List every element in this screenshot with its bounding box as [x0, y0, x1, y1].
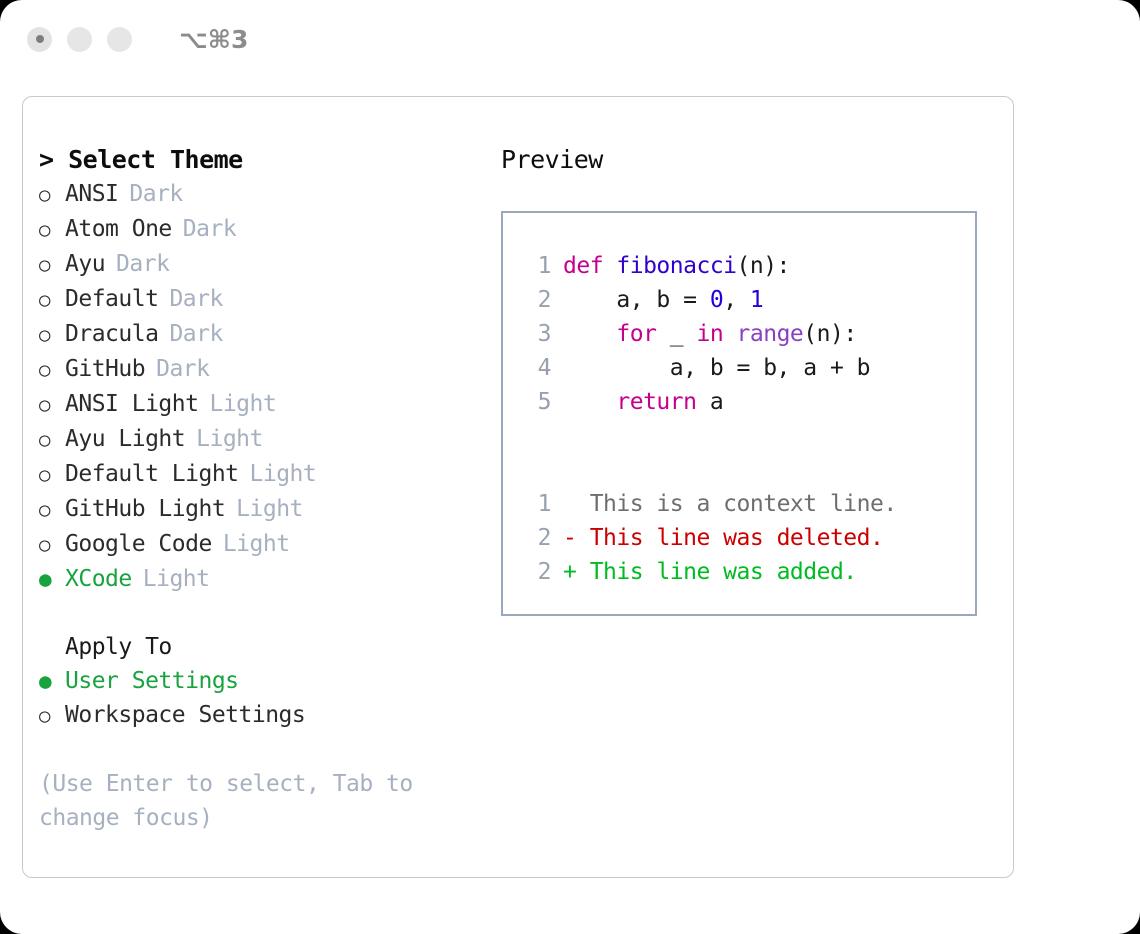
theme-tag: Dark — [183, 212, 236, 246]
diff-text: This line was added. — [590, 555, 857, 589]
code-token: in — [696, 321, 723, 347]
theme-name: ANSI Light — [65, 387, 198, 421]
code-line: 5 return a — [517, 385, 975, 419]
code-token: range — [737, 321, 804, 347]
list-spacer — [39, 596, 479, 630]
theme-item-ayu[interactable]: ○AyuDark — [39, 247, 479, 282]
theme-name: Google Code — [65, 527, 212, 561]
code-line: 4 a, b = b, a + b — [517, 351, 975, 385]
apply-to-label: User Settings — [65, 664, 239, 698]
theme-name: Dracula — [65, 317, 158, 351]
theme-name: XCode — [65, 562, 132, 596]
theme-item-default[interactable]: ○DefaultDark — [39, 282, 479, 317]
code-token: a, b = — [563, 287, 710, 313]
radio-icon: ○ — [39, 493, 65, 527]
theme-tag: Light — [196, 422, 263, 456]
window-dot-third-icon[interactable] — [107, 27, 132, 52]
diff-line-context: 1 This is a context line. — [517, 487, 975, 521]
code-token: fibonacci — [616, 253, 736, 279]
theme-item-atom-one[interactable]: ○Atom OneDark — [39, 212, 479, 247]
code-token: (n): — [737, 253, 790, 279]
theme-name: ANSI — [65, 177, 118, 211]
radio-icon: ○ — [39, 178, 65, 212]
code-token: , — [723, 287, 750, 313]
code-line: 3 for _ in range(n): — [517, 317, 975, 351]
code-token: def — [563, 253, 616, 279]
line-number: 2 — [517, 521, 563, 555]
keyboard-hint-text: (Use Enter to select, Tab to change focu… — [39, 767, 439, 835]
radio-icon: ○ — [39, 423, 65, 457]
radio-selected-icon: ● — [39, 562, 65, 596]
code-token: a — [696, 389, 723, 415]
code-token — [563, 389, 616, 415]
apply-to-title: Apply To — [65, 630, 479, 664]
theme-item-default-light[interactable]: ○Default LightLight — [39, 457, 479, 492]
radio-icon: ○ — [39, 353, 65, 387]
code-content: return a — [563, 385, 723, 419]
preview-column: Preview 1 def fibonacci(n): 2 a, b = 0, … — [501, 143, 1001, 616]
window-dot-second-icon[interactable] — [67, 27, 92, 52]
diff-marker: + — [563, 555, 590, 589]
apply-to-workspace-settings[interactable]: ○Workspace Settings — [39, 698, 479, 733]
theme-name: Default Light — [65, 457, 239, 491]
code-token: a, b = b, a + b — [563, 355, 870, 381]
theme-name: Default — [65, 282, 158, 316]
title-bar: ⌥⌘3 — [0, 0, 1140, 78]
theme-item-xcode[interactable]: ●XCodeLight — [39, 562, 479, 596]
line-number: 4 — [517, 351, 563, 385]
diff-text: This line was deleted. — [590, 521, 884, 555]
theme-item-ansi-light[interactable]: ○ANSI LightLight — [39, 387, 479, 422]
theme-item-google-code[interactable]: ○Google CodeLight — [39, 527, 479, 562]
radio-icon: ○ — [39, 213, 65, 247]
code-content: a, b = 0, 1 — [563, 283, 763, 317]
radio-icon: ○ — [39, 528, 65, 562]
theme-tag: Light — [143, 562, 210, 596]
theme-tag: Dark — [169, 317, 222, 351]
theme-item-ayu-light[interactable]: ○Ayu LightLight — [39, 422, 479, 457]
apply-to-user-settings[interactable]: ●User Settings — [39, 664, 479, 698]
radio-selected-icon: ● — [39, 664, 65, 698]
radio-icon: ○ — [39, 458, 65, 492]
radio-icon: ○ — [39, 283, 65, 317]
theme-item-dracula[interactable]: ○DraculaDark — [39, 317, 479, 352]
code-token — [723, 321, 736, 347]
theme-name: Ayu — [65, 247, 105, 281]
theme-list-header: > Select Theme — [39, 143, 479, 177]
main-panel: > Select Theme ○ANSIDark ○Atom OneDark ○… — [22, 96, 1014, 878]
line-number: 2 — [517, 283, 563, 317]
theme-name: GitHub Light — [65, 492, 225, 526]
theme-tag: Dark — [116, 247, 169, 281]
code-token: _ — [656, 321, 696, 347]
theme-tag: Light — [250, 457, 317, 491]
line-number: 1 — [517, 487, 563, 521]
code-token: return — [616, 389, 696, 415]
diff-line-added: 2 + This line was added. — [517, 555, 975, 589]
theme-item-ansi[interactable]: ○ANSIDark — [39, 177, 479, 212]
diff-marker: - — [563, 521, 590, 555]
theme-tag: Light — [236, 492, 303, 526]
app-window: ⌥⌘3 > Select Theme ○ANSIDark ○Atom OneDa… — [0, 0, 1140, 934]
theme-tag: Light — [209, 387, 276, 421]
line-number: 3 — [517, 317, 563, 351]
code-content: def fibonacci(n): — [563, 249, 790, 283]
theme-name: GitHub — [65, 352, 145, 386]
diff-text: This is a context line. — [590, 487, 897, 521]
theme-name: Ayu Light — [65, 422, 185, 456]
theme-tag: Dark — [129, 177, 182, 211]
diff-line-deleted: 2 - This line was deleted. — [517, 521, 975, 555]
radio-icon: ○ — [39, 248, 65, 282]
radio-icon: ○ — [39, 699, 65, 733]
theme-list: ○ANSIDark ○Atom OneDark ○AyuDark ○Defaul… — [39, 177, 479, 596]
line-number: 2 — [517, 555, 563, 589]
theme-item-github[interactable]: ○GitHubDark — [39, 352, 479, 387]
code-token: 0 — [710, 287, 723, 313]
code-token: (n): — [803, 321, 856, 347]
theme-item-github-light[interactable]: ○GitHub LightLight — [39, 492, 479, 527]
theme-name: Atom One — [65, 212, 172, 246]
code-token — [563, 321, 616, 347]
window-dot-active-icon[interactable] — [27, 27, 52, 52]
code-token: for — [616, 321, 656, 347]
code-blank-line — [517, 419, 975, 453]
code-blank-line — [517, 453, 975, 487]
code-line: 2 a, b = 0, 1 — [517, 283, 975, 317]
preview-box: 1 def fibonacci(n): 2 a, b = 0, 1 3 for … — [501, 211, 977, 616]
preview-title: Preview — [501, 143, 1001, 177]
window-dot-inner — [36, 35, 44, 43]
apply-to-label: Workspace Settings — [65, 698, 305, 732]
keyboard-shortcut-label: ⌥⌘3 — [179, 25, 248, 54]
radio-icon: ○ — [39, 318, 65, 352]
diff-marker — [563, 487, 590, 521]
theme-selection-column: > Select Theme ○ANSIDark ○Atom OneDark ○… — [39, 143, 479, 835]
code-content: a, b = b, a + b — [563, 351, 870, 385]
code-line: 1 def fibonacci(n): — [517, 249, 975, 283]
theme-tag: Light — [223, 527, 290, 561]
line-number: 1 — [517, 249, 563, 283]
theme-tag: Dark — [169, 282, 222, 316]
code-token: 1 — [750, 287, 763, 313]
apply-to-group: ●User Settings ○Workspace Settings — [39, 664, 479, 733]
theme-tag: Dark — [156, 352, 209, 386]
line-number: 5 — [517, 385, 563, 419]
radio-icon: ○ — [39, 388, 65, 422]
code-content: for _ in range(n): — [563, 317, 857, 351]
